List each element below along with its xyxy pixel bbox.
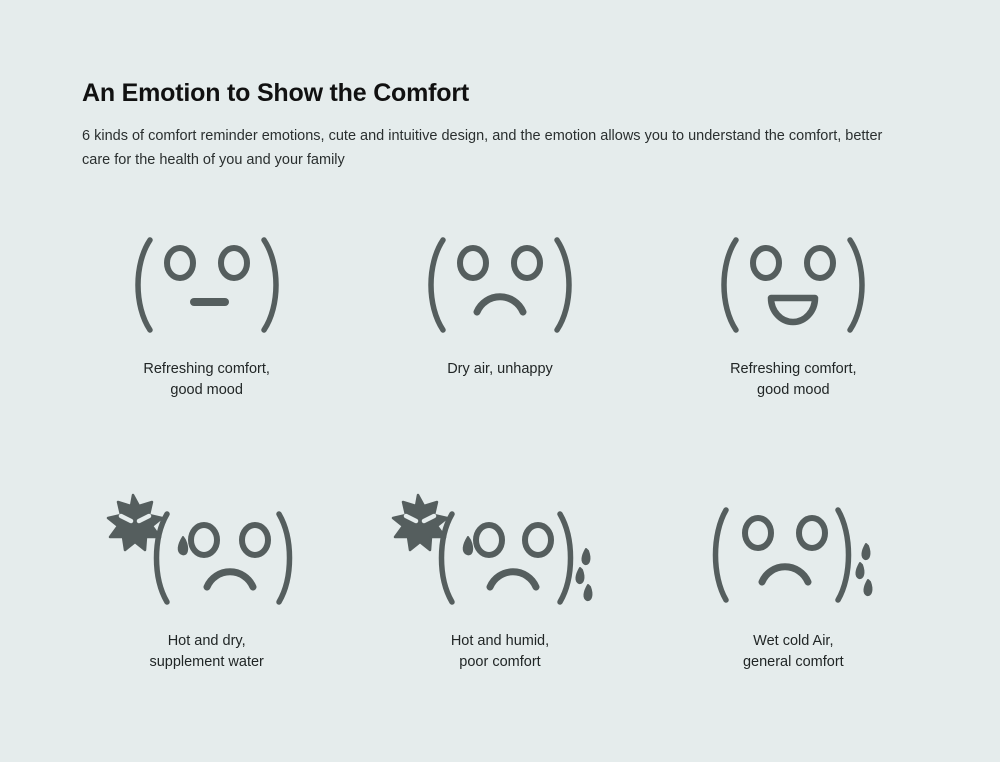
- emotion-caption: Refreshing comfort, good mood: [143, 359, 270, 400]
- mouth-frown-icon: [477, 296, 523, 311]
- bracket-left-icon: [724, 240, 736, 330]
- face-happy-open-smile-svg: [708, 230, 878, 340]
- eye-left-icon: [460, 248, 486, 278]
- sun-burst-shape: [108, 495, 162, 550]
- mouth-frown-icon: [762, 566, 808, 581]
- page-subtitle: 6 kinds of comfort reminder emotions, cu…: [82, 125, 887, 173]
- face-hot-humid-sun-sweat-drops-svg: [392, 492, 607, 617]
- eye-right-icon: [799, 518, 825, 548]
- water-drop-2: [857, 563, 864, 578]
- face-hot-dry-sun-sweat-icon: [107, 492, 307, 617]
- face-neutral-flat-mouth-svg: [122, 230, 292, 340]
- mouth-frown-icon: [490, 572, 536, 587]
- face-neutral-flat-mouth-icon: [122, 222, 292, 347]
- sweat-drop-left-icon: [464, 537, 472, 554]
- sun-angry-icon: [108, 495, 162, 550]
- water-drop-3: [865, 580, 872, 595]
- emotion-card-dry-air-unhappy: Dry air, unhappy: [353, 222, 646, 407]
- eye-right-icon: [514, 248, 540, 278]
- emotion-caption: Wet cold Air, general comfort: [743, 631, 844, 672]
- bracket-left-icon: [431, 240, 443, 330]
- eye-left-icon: [167, 248, 193, 278]
- bracket-left-icon: [716, 510, 727, 600]
- eye-left-icon: [753, 248, 779, 278]
- sweat-drop-left-icon: [178, 537, 186, 554]
- emotion-comfort-page: An Emotion to Show the Comfort 6 kinds o…: [0, 0, 1000, 762]
- bracket-right-icon: [279, 514, 290, 602]
- bracket-right-icon: [560, 514, 571, 602]
- mouth-open-smile-icon: [771, 298, 815, 322]
- bracket-right-icon: [557, 240, 569, 330]
- emotion-caption: Hot and humid, poor comfort: [451, 631, 549, 672]
- face-wet-cold-drops-icon: [698, 492, 888, 617]
- face-hot-humid-sun-sweat-drops-icon: [392, 492, 607, 617]
- face-happy-open-smile-icon: [708, 222, 878, 347]
- emotion-card-wet-cold-air: Wet cold Air, general comfort: [647, 492, 940, 677]
- eye-right-icon: [807, 248, 833, 278]
- emotion-caption: Dry air, unhappy: [447, 359, 553, 380]
- bracket-right-icon: [850, 240, 862, 330]
- emotion-caption: Refreshing comfort, good mood: [730, 359, 857, 400]
- sun-angry-icon: [393, 495, 447, 550]
- mouth-frown-icon: [207, 572, 253, 587]
- emotion-card-hot-and-humid: Hot and humid, poor comfort: [353, 492, 646, 677]
- emotion-card-refreshing-comfort-neutral: Refreshing comfort, good mood: [60, 222, 353, 407]
- eye-left-icon: [745, 518, 771, 548]
- eye-right-icon: [221, 248, 247, 278]
- bracket-left-icon: [138, 240, 150, 330]
- face-hot-dry-sun-sweat-svg: [107, 492, 307, 617]
- bracket-left-icon: [156, 514, 167, 602]
- bracket-left-icon: [442, 514, 453, 602]
- water-drop-2: [577, 568, 584, 583]
- water-drops-right-icon: [577, 549, 592, 600]
- eye-right-icon: [525, 525, 551, 555]
- face-wet-cold-drops-svg: [698, 500, 888, 610]
- eye-left-icon: [476, 525, 502, 555]
- water-drops-right-icon: [857, 544, 872, 595]
- emotion-card-hot-and-dry: Hot and dry, supplement water: [60, 492, 353, 677]
- eye-right-icon: [242, 525, 268, 555]
- page-header: An Emotion to Show the Comfort 6 kinds o…: [82, 78, 902, 173]
- water-drop-3: [585, 585, 592, 600]
- emotion-grid: Refreshing comfort, good mood Dry air, u…: [60, 222, 940, 677]
- eye-left-icon: [191, 525, 217, 555]
- sun-burst-shape: [393, 495, 447, 550]
- emotion-card-refreshing-comfort-happy: Refreshing comfort, good mood: [647, 222, 940, 407]
- face-sad-frown-icon: [415, 222, 585, 347]
- water-drop-1: [863, 544, 870, 559]
- bracket-right-icon: [838, 510, 849, 600]
- emotion-caption: Hot and dry, supplement water: [149, 631, 263, 672]
- page-title: An Emotion to Show the Comfort: [82, 78, 902, 108]
- face-sad-frown-svg: [415, 230, 585, 340]
- water-drop-1: [583, 549, 590, 564]
- bracket-right-icon: [264, 240, 276, 330]
